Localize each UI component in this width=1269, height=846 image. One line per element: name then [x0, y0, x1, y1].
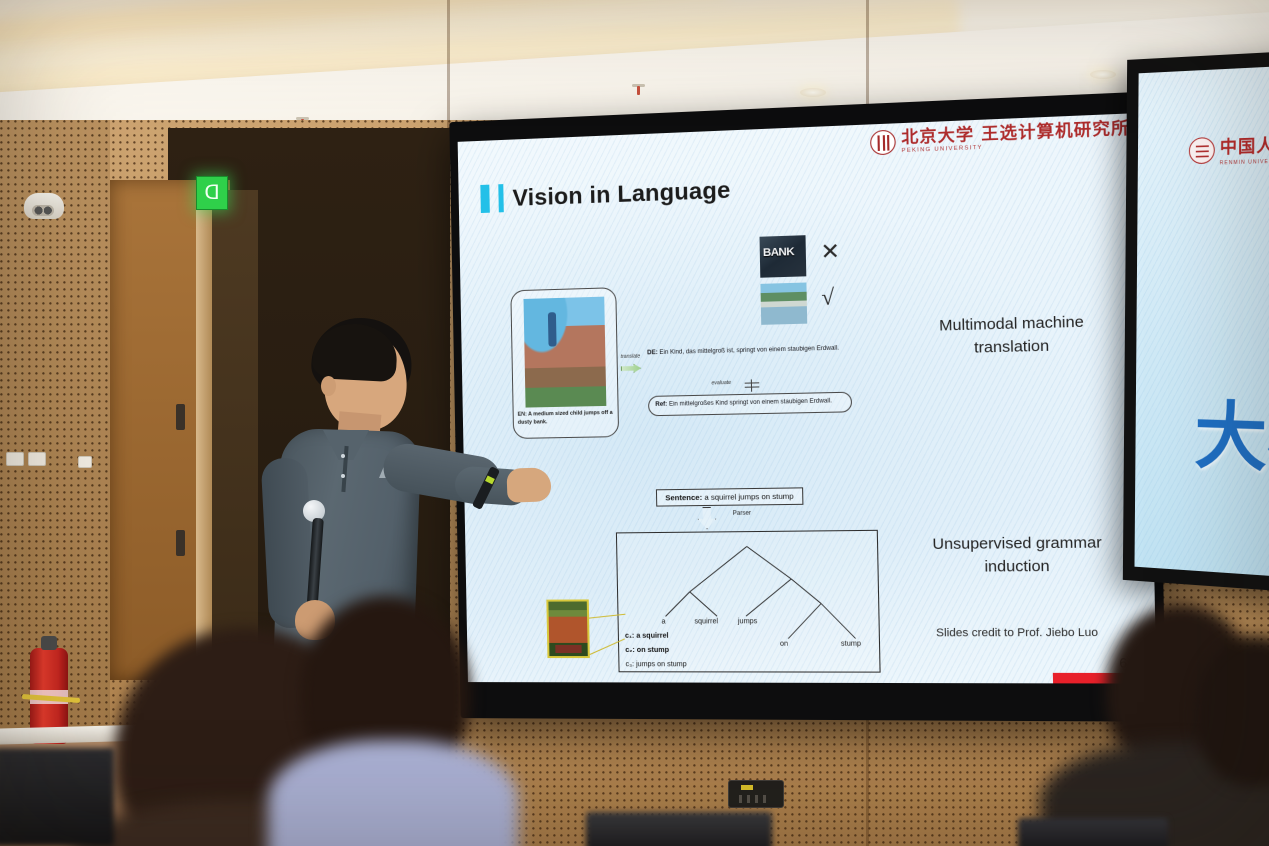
constituent-item: c₃: jumps on stump [626, 661, 687, 668]
bank-disambiguation-group: BANK ✕ √ [760, 235, 808, 325]
tree-leaf: jumps [738, 618, 758, 625]
ref-sentence: Ein mittelgroßes Kind springt von einem … [669, 398, 832, 407]
cross-mark-icon: ✕ [820, 238, 840, 265]
reference-translation-box: Ref: Ein mittelgroßes Kind springt von e… [648, 392, 852, 416]
title-accent-bar-thin [498, 184, 504, 212]
slide-credit: Slides credit to Prof. Jiebo Luo [936, 627, 1098, 640]
ruc-seal-icon [1189, 136, 1215, 163]
running-man-icon: ᗡ [204, 183, 219, 203]
constituent-text: a squirrel [636, 633, 668, 640]
sentence-box: Sentence: a squirrel jumps on stump [656, 487, 803, 506]
constituent-item: c₁: a squirrel [625, 633, 669, 640]
constituent-key: c₂: [625, 647, 635, 654]
main-display-screen[interactable]: 北京大学 王选计算机研究所 PEKING UNIVERSITY Vision i… [449, 91, 1166, 721]
ruc-logo-chinese: 中国人大 [1220, 130, 1269, 158]
ruc-logo-english: RENMIN UNIVERSITY [1220, 158, 1269, 166]
grammar-induction-figure: Sentence: a squirrel jumps on stump Pars… [516, 485, 977, 683]
ref-prefix: Ref: [655, 402, 667, 408]
squirrel-photo [546, 599, 590, 658]
downlight-icon [1090, 70, 1116, 79]
lecture-room-photo: ᗡ 北京大学 王选计算机研究所 PEKING UNIVERSITY Vision… [0, 0, 1269, 846]
wall-switch-plate[interactable] [6, 452, 24, 466]
constituent-text: jumps on stump [636, 661, 687, 668]
grammar-label-line2: induction [902, 554, 1135, 578]
grammar-right-label: Unsupervised grammar induction [901, 531, 1134, 578]
secondary-display-screen[interactable]: 中国人大 RENMIN UNIVERSITY 大模 [1123, 50, 1269, 592]
multimodal-translation-figure: EN: A medium sized child jumps off a dus… [510, 267, 949, 471]
pku-seal-icon [870, 130, 896, 156]
presenter-shirt-button [341, 454, 345, 458]
sentence-prefix: Sentence: [665, 493, 702, 503]
renmin-university-logo: 中国人大 RENMIN UNIVERSITY [1189, 130, 1269, 167]
audience-shoulders [268, 740, 518, 846]
de-sentence: Ein Kind, das mittelgroß ist, springt vo… [659, 345, 839, 356]
tree-leaf: on [780, 641, 788, 648]
check-mark-icon: √ [821, 284, 834, 311]
laptop[interactable] [0, 748, 114, 846]
tree-leaf: a [661, 618, 665, 625]
constituent-key: c₃: [626, 661, 635, 668]
wall-outlet-plate[interactable] [78, 456, 92, 468]
sentence-text: a squirrel jumps on stump [704, 492, 793, 502]
downlight-icon [800, 88, 826, 97]
door-hinge [176, 404, 185, 430]
german-translation: DE: Ein Kind, das mittelgroß ist, spring… [647, 344, 845, 359]
down-arrow-icon [697, 507, 716, 530]
wall-switch-plate[interactable] [28, 452, 46, 466]
door-opening [212, 190, 258, 670]
de-prefix: DE: [647, 350, 658, 356]
presenter-right-hand [506, 467, 551, 503]
laptop[interactable] [586, 812, 772, 846]
sprinkler-icon [632, 84, 645, 97]
constituent-item: c₂: on stump [625, 647, 669, 654]
right-arrow-icon [621, 364, 642, 374]
translate-label: translate [621, 353, 641, 360]
presenter-ear [321, 376, 336, 396]
secondary-headline: 大模 [1194, 376, 1269, 490]
bank-sign-text: BANK [763, 246, 794, 259]
riverbank-photo [760, 282, 807, 324]
secondary-slide: 中国人大 RENMIN UNIVERSITY 大模 [1134, 65, 1269, 578]
evaluate-label: evaluate [711, 380, 731, 387]
av-wall-plate[interactable] [728, 780, 784, 808]
mmt-label-line2: translation [904, 333, 1121, 361]
door-hinge [176, 530, 185, 556]
bank-building-photo: BANK [760, 235, 807, 278]
tree-leaf: squirrel [694, 618, 718, 625]
security-camera-icon [24, 193, 64, 219]
constituent-key: c₁: [625, 633, 634, 640]
exit-sign: ᗡ [196, 176, 228, 210]
constituent-text: on stump [637, 647, 669, 654]
laptop[interactable] [1018, 818, 1168, 846]
peking-university-logo: 北京大学 王选计算机研究所 PEKING UNIVERSITY [870, 120, 1130, 156]
parse-tree-box: a squirrel jumps on stump c₁: a squirrel… [616, 530, 881, 673]
title-accent-bar-wide [480, 185, 490, 213]
presenter-shirt-button [341, 474, 345, 478]
slide-title-row: Vision in Language [480, 175, 730, 213]
tree-leaf: stump [841, 641, 861, 648]
slide-title: Vision in Language [512, 176, 731, 212]
door-frame [196, 186, 212, 686]
parser-label: Parser [733, 511, 751, 517]
grammar-label-line1: Unsupervised grammar [901, 531, 1134, 556]
mmt-right-label: Multimodal machine translation [903, 310, 1121, 361]
presentation-slide: 北京大学 王选计算机研究所 PEKING UNIVERSITY Vision i… [458, 113, 1157, 684]
evaluate-connector-icon [745, 379, 760, 392]
